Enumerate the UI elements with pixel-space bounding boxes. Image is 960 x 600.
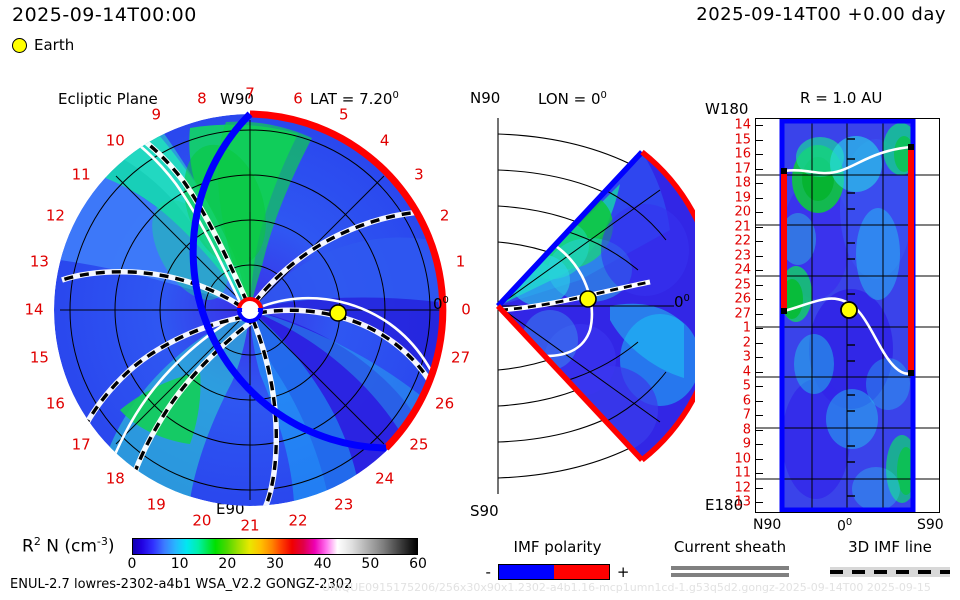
map-y-axis-label: 5 bbox=[743, 380, 751, 393]
ecliptic-lat-text: LAT = 7.20 bbox=[310, 90, 392, 108]
imf-line-legend: 3D IMF line bbox=[820, 540, 960, 577]
map-y-axis-label: 10 bbox=[734, 452, 751, 465]
colorbar-tick-label: 40 bbox=[314, 557, 332, 571]
sun-marker bbox=[239, 299, 261, 321]
current-sheath-line-2 bbox=[671, 573, 789, 577]
current-sheath-legend: Current sheath bbox=[655, 540, 805, 580]
map-y-axis-label: 17 bbox=[734, 162, 751, 175]
map-y-axis-label: 3 bbox=[743, 351, 751, 364]
meridional-bottom-label: S90 bbox=[470, 504, 499, 519]
imf-polarity-swatch bbox=[498, 564, 610, 580]
meridional-plane-panel[interactable]: N90 LON = 00 S90 bbox=[460, 100, 695, 520]
map-y-axis-label: 27 bbox=[734, 307, 751, 320]
ecliptic-hour-label: 7 bbox=[245, 87, 255, 102]
earth-legend-label: Earth bbox=[34, 38, 74, 53]
current-sheath-sample bbox=[655, 566, 805, 577]
map-y-axis-label: 19 bbox=[734, 191, 751, 204]
ecliptic-hour-label: 21 bbox=[240, 519, 259, 534]
colorbar-label-r: R bbox=[22, 537, 34, 557]
colorbar-tick-label: 30 bbox=[266, 557, 284, 571]
colorbar-tick-label: 20 bbox=[218, 557, 236, 571]
imf-line-sample bbox=[830, 567, 950, 577]
colorbar-tick-label: 60 bbox=[409, 557, 427, 571]
map-y-axis-label: 23 bbox=[734, 249, 751, 262]
colorbar-tick-label: 50 bbox=[361, 557, 379, 571]
map-axes-box[interactable]: 1415161718192021222324252627123456789101… bbox=[755, 118, 940, 513]
meridional-lon-text: LON = 0 bbox=[538, 90, 601, 108]
forecast-time-label: 2025-09-14T00 +0.00 day bbox=[696, 6, 946, 24]
map-xlabel-s90: S90 bbox=[917, 518, 944, 532]
imf-positive-swatch bbox=[554, 565, 609, 579]
map-y-axis-label: 14 bbox=[734, 119, 751, 132]
ecliptic-hour-label: 20 bbox=[192, 513, 211, 528]
map-y-axis-label: 2 bbox=[743, 336, 751, 349]
colorbar-label-exp: 2 bbox=[34, 535, 41, 548]
map-xlabel-n90: N90 bbox=[753, 518, 781, 532]
page-title-datetime: 2025-09-14T00:00 bbox=[12, 6, 197, 25]
map-y-axis-label: 25 bbox=[734, 278, 751, 291]
ecliptic-hour-label: 6 bbox=[293, 92, 303, 107]
colorbar-tick-labels: 0102030405060 bbox=[132, 557, 418, 573]
map-y-axis-label: 4 bbox=[743, 365, 751, 378]
colorbar-tick-label: 10 bbox=[171, 557, 189, 571]
map-y-axis-label: 24 bbox=[734, 264, 751, 277]
colorbar-label-units: N (cm bbox=[41, 537, 97, 557]
imf-line-title: 3D IMF line bbox=[820, 540, 960, 555]
colorbar-tick-label: 0 bbox=[128, 557, 137, 571]
ecliptic-latitude-annotation: LAT = 7.200 bbox=[310, 91, 399, 107]
colorbar-label-close: ) bbox=[108, 537, 115, 557]
colorbar-label-units-exp: -3 bbox=[97, 535, 108, 548]
ecliptic-hour-label: 13 bbox=[30, 254, 49, 269]
imf-polarity-title: IMF polarity bbox=[470, 540, 645, 555]
map-y-axis-label: 7 bbox=[743, 409, 751, 422]
current-sheath-line-1 bbox=[671, 566, 789, 570]
map-title: R = 1.0 AU bbox=[800, 91, 882, 106]
meridional-right-degree-sup: 0 bbox=[684, 293, 690, 304]
earth-dot-icon bbox=[12, 38, 27, 53]
colorbar-label: R2 N (cm-3) bbox=[22, 536, 115, 556]
map-y-axis-label: 1 bbox=[743, 322, 751, 335]
earth-marker bbox=[841, 302, 857, 318]
latlon-map-panel[interactable]: R = 1.0 AU W180 E180 1415161718192021222… bbox=[705, 100, 955, 520]
map-xlabel-zero-sup: 0 bbox=[846, 517, 852, 528]
run-watermark: UNIQUE0915175206/256x30x90x1.2302-a4b1.1… bbox=[322, 582, 931, 593]
imf-polarity-legend: IMF polarity - + bbox=[470, 540, 645, 581]
map-y-axis-label: 15 bbox=[734, 133, 751, 146]
ecliptic-hour-label: 8 bbox=[197, 92, 207, 107]
ecliptic-panel-title: Ecliptic Plane bbox=[58, 92, 158, 107]
ecliptic-hour-label: 14 bbox=[24, 303, 43, 318]
map-y-axis-label: 9 bbox=[743, 438, 751, 451]
imf-negative-symbol: - bbox=[486, 563, 491, 581]
earth-marker bbox=[330, 305, 346, 321]
meridional-lon-degree: 0 bbox=[601, 90, 607, 101]
model-run-id: ENUL-2.7 lowres-2302-a4b1 WSA_V2.2 GONGZ… bbox=[10, 578, 352, 591]
ecliptic-plane-panel[interactable]: Ecliptic Plane W90 LAT = 7.200 E90 01234… bbox=[20, 100, 440, 520]
map-y-axis-label: 18 bbox=[734, 177, 751, 190]
density-colorbar[interactable] bbox=[132, 538, 418, 555]
map-top-label: W180 bbox=[705, 102, 748, 117]
meridional-right-degree-label: 00 bbox=[674, 294, 690, 310]
meridional-density-map[interactable] bbox=[460, 110, 695, 502]
meridional-top-label: N90 bbox=[470, 91, 500, 106]
ecliptic-density-map[interactable] bbox=[50, 110, 450, 510]
map-y-axis-label: 20 bbox=[734, 206, 751, 219]
map-y-axis-label: 13 bbox=[734, 496, 751, 509]
ecliptic-lat-degree: 0 bbox=[392, 90, 398, 101]
map-y-axis-label: 26 bbox=[734, 293, 751, 306]
map-y-axis-label: 22 bbox=[734, 235, 751, 248]
ecliptic-plot-svg bbox=[50, 110, 450, 510]
ecliptic-right-degree-sup: 0 bbox=[443, 295, 449, 306]
earth-marker bbox=[580, 291, 596, 307]
ecliptic-right-degree-label: 00 bbox=[433, 296, 449, 312]
map-xlabel-zero-value: 0 bbox=[837, 519, 846, 535]
map-y-axis-label: 6 bbox=[743, 394, 751, 407]
map-y-axis-label: 8 bbox=[743, 423, 751, 436]
meridional-longitude-annotation: LON = 00 bbox=[538, 91, 607, 107]
imf-negative-swatch bbox=[499, 565, 554, 579]
current-sheath-title: Current sheath bbox=[655, 540, 805, 555]
map-y-axis-label: 12 bbox=[734, 481, 751, 494]
ecliptic-hour-label: 22 bbox=[289, 513, 308, 528]
map-y-axis-label: 16 bbox=[734, 148, 751, 161]
map-density-svg bbox=[756, 119, 939, 512]
earth-marker-legend: Earth bbox=[12, 38, 74, 53]
map-y-axis-label: 11 bbox=[734, 467, 751, 480]
imf-positive-symbol: + bbox=[617, 563, 630, 581]
map-xlabel-zero: 00 bbox=[837, 518, 852, 534]
map-y-axis-label: 21 bbox=[734, 220, 751, 233]
ecliptic-hour-label: 15 bbox=[30, 351, 49, 366]
meridional-right-degree-value: 0 bbox=[674, 293, 684, 311]
ecliptic-right-degree-value: 0 bbox=[433, 295, 443, 313]
